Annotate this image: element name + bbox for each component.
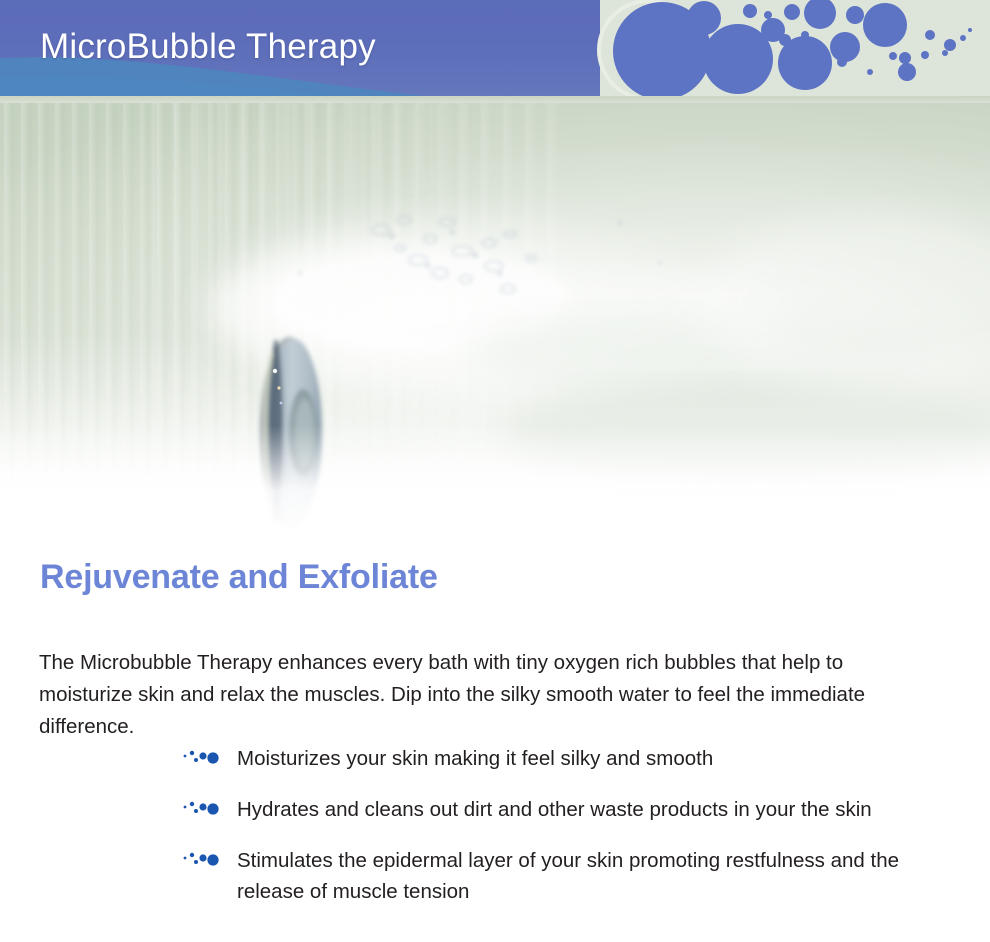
microbubble-therapy-page: MicroBubble Therapy <box>0 0 990 942</box>
hero-bottom-fade <box>0 425 990 545</box>
list-item-label: Moisturizes your skin making it feel sil… <box>237 747 713 770</box>
list-item-label: Hydrates and cleans out dirt and other w… <box>237 798 872 821</box>
intro-paragraph: The Microbubble Therapy enhances every b… <box>39 647 909 743</box>
benefits-list: Moisturizes your skin making it feel sil… <box>182 743 942 907</box>
bubble-cluster-bullet-icon <box>182 748 224 768</box>
list-item: Hydrates and cleans out dirt and other w… <box>182 794 942 825</box>
section-heading: Rejuvenate and Exfoliate <box>40 558 438 597</box>
content-section: Rejuvenate and Exfoliate The Microbubble… <box>0 545 990 942</box>
page-header: MicroBubble Therapy <box>0 0 990 103</box>
page-title: MicroBubble Therapy <box>40 27 376 67</box>
list-item: Stimulates the epidermal layer of your s… <box>182 845 942 907</box>
bubble-cluster-bullet-icon <box>182 799 224 819</box>
header-bottom-strip <box>0 96 990 103</box>
hero-image <box>0 103 990 545</box>
bubble-cluster-bullet-icon <box>182 850 224 870</box>
list-item-label: Stimulates the epidermal layer of your s… <box>237 849 899 903</box>
list-item: Moisturizes your skin making it feel sil… <box>182 743 942 774</box>
